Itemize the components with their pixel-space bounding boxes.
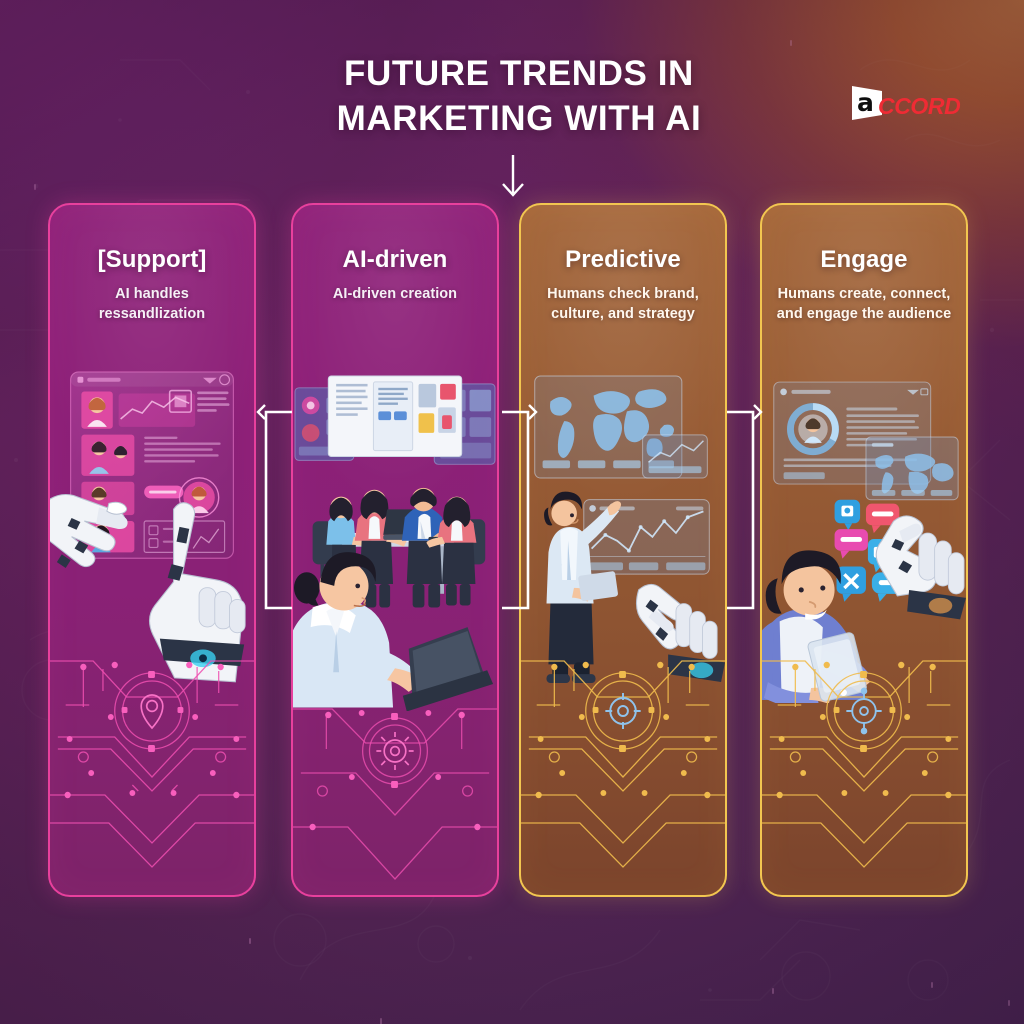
panel-subtitle: AI handles ressandlization: [61, 285, 243, 325]
panel-engage[interactable]: Engage Humans create, connect, and engag…: [760, 203, 968, 897]
panel-header: [Support] AI handles ressandlization: [50, 205, 254, 325]
panel-subtitle: AI-driven creation: [304, 285, 486, 305]
team-meeting-laptop-illustration: [293, 351, 497, 711]
logo-letter: a: [857, 91, 874, 115]
network-node-icon: [846, 689, 881, 734]
infographic-canvas: FUTURE TRENDS IN MARKETING WITH AI a CCO…: [0, 0, 1024, 1024]
panel-title: AI-driven: [304, 247, 486, 273]
connector-right: [723, 404, 763, 616]
connector-mid: [498, 404, 538, 616]
location-pin-icon: [141, 695, 163, 728]
panel-title: Predictive: [532, 247, 714, 273]
panel-predictive[interactable]: Predictive Humans check brand, culture, …: [519, 203, 727, 897]
panel-subtitle: Humans create, connect, and engage the a…: [773, 285, 955, 325]
panel-circuit-decoration: [521, 645, 725, 895]
logo-wordmark: CCORD: [878, 93, 960, 120]
panel-subtitle: Humans check brand, culture, and strateg…: [532, 285, 714, 325]
panel-title: Engage: [773, 247, 955, 273]
arrow-down-icon: [496, 153, 530, 199]
title-line-1: FUTURE TRENDS IN: [344, 54, 694, 93]
panel-title: [Support]: [61, 247, 243, 273]
brand-logo[interactable]: a CCORD: [852, 86, 960, 124]
panel-circuit-decoration: [762, 645, 966, 895]
connector-left: [256, 404, 296, 616]
panel-ai-driven[interactable]: AI-driven AI-driven creation: [291, 203, 499, 897]
panel-support[interactable]: [Support] AI handles ressandlization: [48, 203, 256, 897]
panel-header: Engage Humans create, connect, and engag…: [762, 205, 966, 325]
panel-header: Predictive Humans check brand, culture, …: [521, 205, 725, 325]
panel-circuit-decoration: [293, 695, 497, 895]
gear-icon: [376, 732, 413, 770]
panel-circuit-decoration: [50, 645, 254, 895]
robot-hands-tablet-illustration: [50, 355, 254, 685]
target-crosshair-icon: [605, 693, 640, 729]
panel-header: AI-driven AI-driven creation: [293, 205, 497, 305]
